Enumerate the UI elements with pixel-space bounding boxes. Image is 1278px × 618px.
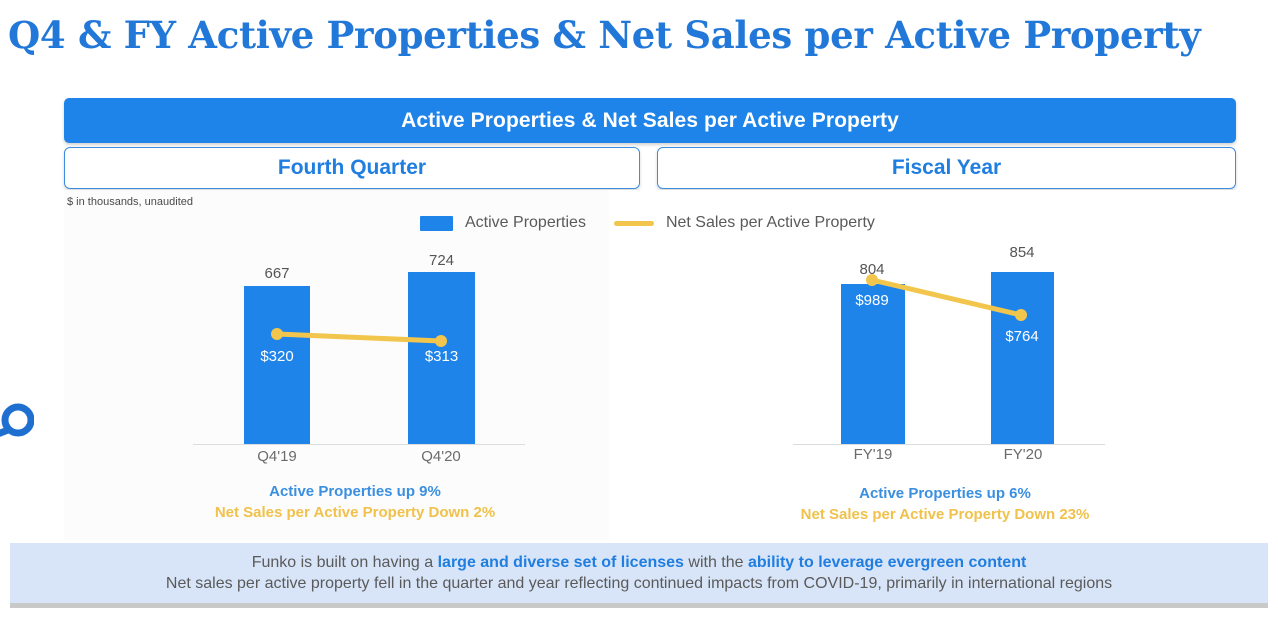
bar-value-q4-20: 724 [408,252,475,269]
bar-value-fy-20: 854 [988,244,1056,261]
tick-label-q4-19: Q4'19 [234,448,320,465]
fourth-quarter-chart: 667 724 $320 $313 Q4'19 Q4'20 [180,240,530,445]
tab-fiscal-year[interactable]: Fiscal Year [657,147,1236,189]
fiscal-year-chart: 804 854 $989 $764 FY'19 FY'20 [780,240,1110,445]
line-value-fy-20: $764 [988,328,1056,345]
footer-highlight-2: ability to leverage evergreen content [748,554,1026,571]
caption-quarter-bar: Active Properties up 9% [180,481,530,502]
caption-quarter-line: Net Sales per Active Property Down 2% [180,502,530,523]
bar-value-fy-19: 804 [838,261,906,278]
slide-root: Q4 & FY Active Properties & Net Sales pe… [0,0,1278,618]
legend-line-swatch-icon [614,221,654,226]
units-note: $ in thousands, unaudited [67,196,193,208]
magnifier-icon [0,378,34,450]
line-series-quarter [180,240,530,445]
chart-legend: Active Properties Net Sales per Active P… [420,214,875,232]
page-title: Q4 & FY Active Properties & Net Sales pe… [8,12,1268,58]
tab-fiscal-year-label: Fiscal Year [892,156,1001,180]
tab-fourth-quarter[interactable]: Fourth Quarter [64,147,640,189]
legend-bar-swatch-icon [420,216,453,231]
tick-label-q4-20: Q4'20 [398,448,484,465]
caption-fiscal: Active Properties up 6% Net Sales per Ac… [780,483,1110,525]
footer-text-1a: Funko is built on having a [252,554,438,571]
legend-label-net-sales: Net Sales per Active Property [666,214,875,232]
line-value-fy-19: $989 [838,292,906,309]
footer-highlight-1: large and diverse set of licenses [438,554,684,571]
legend-label-active-properties: Active Properties [465,214,586,232]
line-value-q4-19: $320 [244,348,310,365]
footer-banner: Funko is built on having a large and div… [10,543,1268,603]
legend-item-net-sales: Net Sales per Active Property [614,214,875,232]
line-value-q4-20: $313 [408,348,475,365]
legend-item-active-properties: Active Properties [420,214,586,232]
footer-underline [10,603,1268,608]
tick-label-fy-20: FY'20 [980,446,1066,463]
bar-value-q4-19: 667 [244,265,310,282]
section-header-bar: Active Properties & Net Sales per Active… [64,98,1236,143]
caption-fiscal-bar: Active Properties up 6% [780,483,1110,504]
x-axis-line-fiscal [793,444,1105,446]
x-axis-line-quarter [193,444,525,446]
bar-fy-20 [991,272,1054,444]
footer-text-1b: with the [684,554,748,571]
caption-fiscal-line: Net Sales per Active Property Down 23% [780,504,1110,525]
tab-fourth-quarter-label: Fourth Quarter [278,156,426,180]
caption-quarter: Active Properties up 9% Net Sales per Ac… [180,481,530,523]
section-header-label: Active Properties & Net Sales per Active… [401,109,899,133]
footer-line-2: Net sales per active property fell in th… [166,575,1112,593]
tick-label-fy-19: FY'19 [830,446,916,463]
line-series-fiscal [780,240,1110,445]
bar-q4-19 [244,286,310,444]
footer-line-1: Funko is built on having a large and div… [252,554,1027,572]
